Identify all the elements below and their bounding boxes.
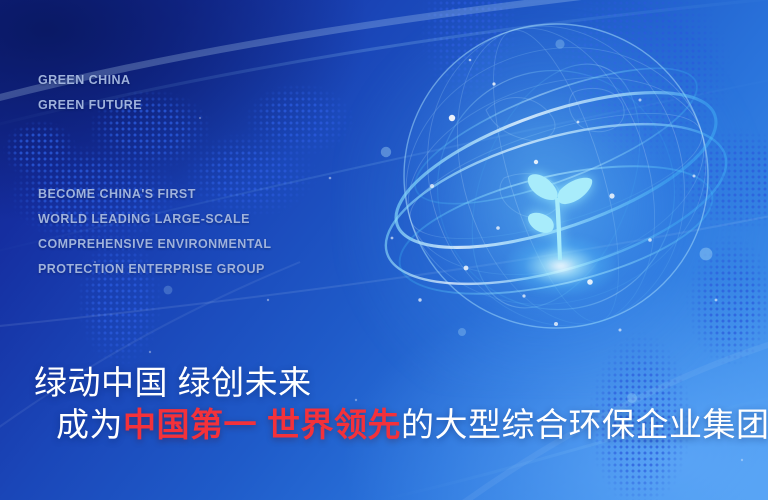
english-statement: BECOME CHINA'S FIRST WORLD LEADING LARGE…: [38, 182, 368, 282]
chinese-headline: 绿动中国 绿创未来 成为中国第一世界领先的大型综合环保企业集团: [34, 362, 754, 446]
hero-banner: GREEN CHINA GREEN FUTURE BECOME CHINA'S …: [0, 0, 768, 500]
statement-line-4: PROTECTION ENTERPRISE GROUP: [38, 257, 368, 282]
english-tagline: GREEN CHINA GREEN FUTURE: [38, 68, 358, 118]
tagline-line-1: GREEN CHINA: [38, 68, 358, 93]
headline-prefix: 成为: [56, 406, 123, 443]
wireframe-globe-icon: [378, 18, 738, 348]
statement-line-2: WORLD LEADING LARGE-SCALE: [38, 207, 368, 232]
statement-line-1: BECOME CHINA'S FIRST: [38, 182, 368, 207]
globe-core-flare: [506, 236, 616, 296]
tagline-line-2: GREEN FUTURE: [38, 93, 358, 118]
globe-glow: [338, 0, 768, 388]
headline-line-2: 成为中国第一世界领先的大型综合环保企业集团: [34, 404, 754, 446]
headline-highlight-world-leading: 世界领先: [267, 406, 401, 443]
headline-suffix: 的大型综合环保企业集团: [401, 406, 768, 443]
headline-line-1: 绿动中国 绿创未来: [34, 362, 754, 404]
statement-line-3: COMPREHENSIVE ENVIRONMENTAL: [38, 232, 368, 257]
globe-graphic: [378, 18, 738, 348]
sprout-seedling-icon: [520, 160, 594, 270]
headline-highlight-china-first: 中国第一: [123, 406, 257, 443]
